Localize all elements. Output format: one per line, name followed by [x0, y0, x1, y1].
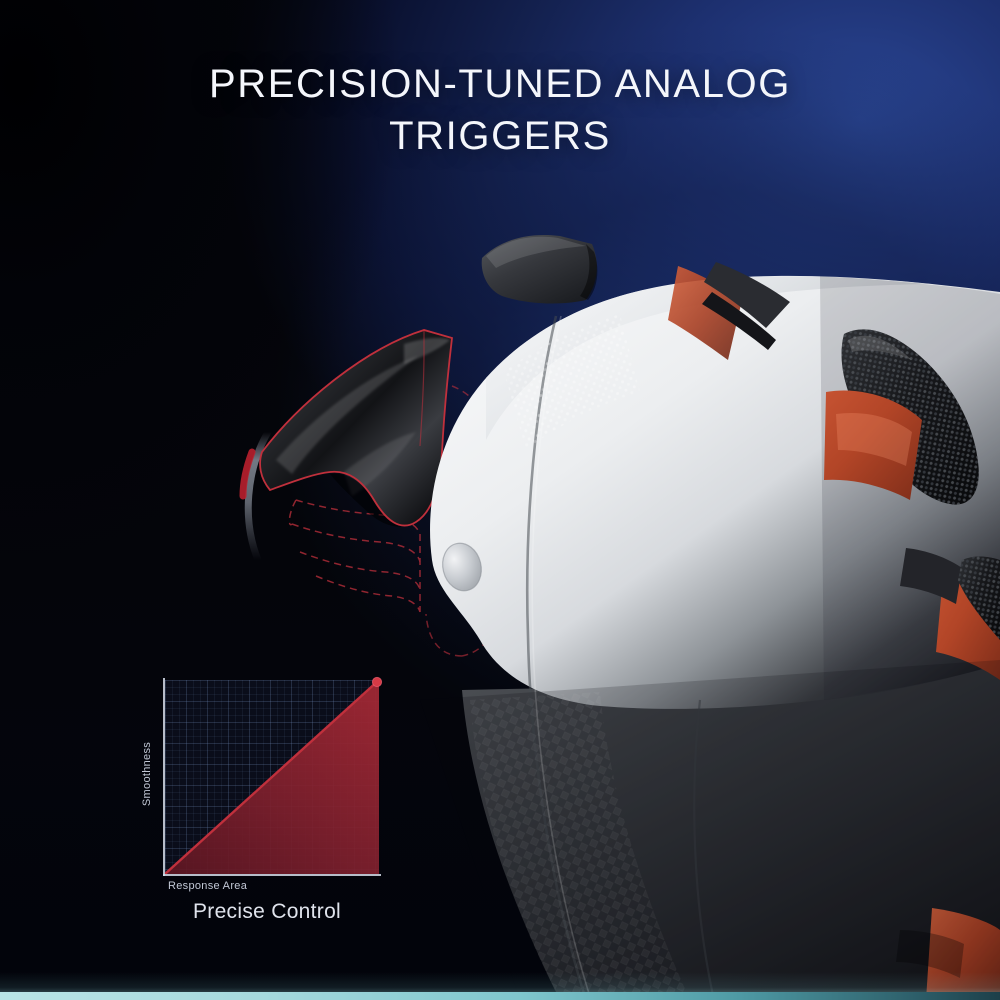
- chart-plot-area: [165, 680, 379, 874]
- bottom-accent-strip: [0, 992, 1000, 1000]
- shoulder-bumper: [482, 235, 598, 303]
- bottom-strip-glow: [0, 972, 1000, 994]
- chart-y-axis: [163, 678, 165, 876]
- chart-x-axis-label: Response Area: [168, 880, 247, 892]
- chart-caption: Precise Control: [132, 900, 402, 924]
- chart-x-axis: [163, 874, 381, 876]
- chart-endpoint-marker: [165, 680, 379, 874]
- chart-y-axis-label: Smoothness: [141, 719, 153, 829]
- product-feature-graphic: PRECISION-TUNED ANALOG TRIGGERS: [0, 0, 1000, 1000]
- analog-trigger-part: [260, 330, 452, 527]
- response-curve-chart: Smoothness Response Area Precise Control: [132, 668, 402, 930]
